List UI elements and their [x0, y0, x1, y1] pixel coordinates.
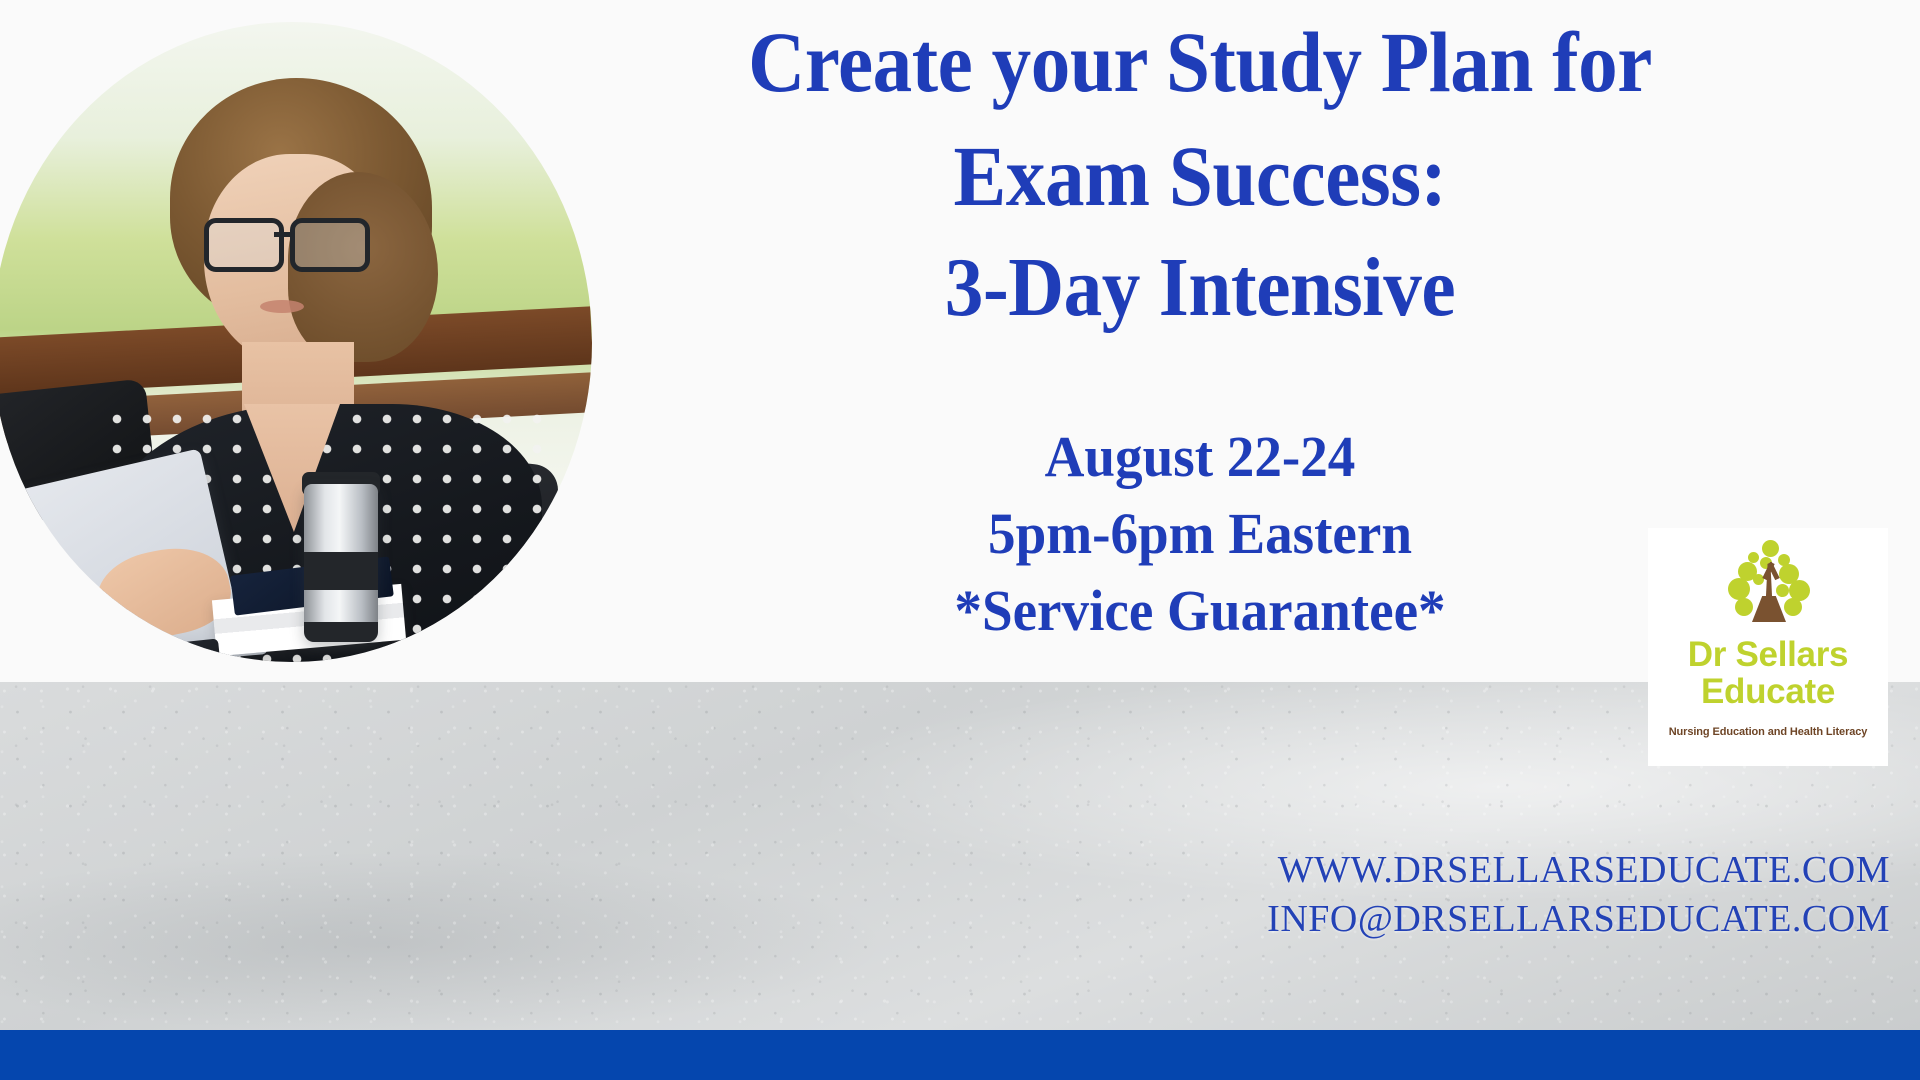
worn-lens-right — [290, 218, 370, 272]
tree-icon — [1722, 540, 1814, 624]
headline-block: Create your Study Plan for Exam Success:… — [600, 6, 1800, 344]
contact-block: WWW.DRSELLARSEDUCATE.COM INFO@DRSELLARSE… — [1080, 846, 1890, 943]
lips — [260, 300, 304, 313]
logo-tagline: Nursing Education and Health Literacy — [1669, 726, 1868, 738]
details-block: August 22-24 5pm-6pm Eastern *Service Gu… — [640, 418, 1760, 649]
logo-name-line-1: Dr Sellars — [1688, 636, 1848, 673]
logo-card: Dr Sellars Educate Nursing Education and… — [1648, 528, 1888, 766]
website-url[interactable]: WWW.DRSELLARSEDUCATE.COM — [1080, 846, 1890, 895]
headline-line-2: Exam Success: — [648, 120, 1752, 234]
headline-line-1: Create your Study Plan for — [648, 6, 1752, 120]
flyer-canvas: Create your Study Plan for Exam Success:… — [0, 0, 1920, 1080]
service-guarantee: *Service Guarantee* — [668, 572, 1732, 649]
headline-line-3: 3-Day Intensive — [648, 233, 1752, 344]
event-time: 5pm-6pm Eastern — [668, 495, 1732, 572]
worn-lens-left — [204, 218, 284, 272]
email-address[interactable]: INFO@DRSELLARSEDUCATE.COM — [1080, 895, 1890, 944]
logo-name: Dr Sellars Educate — [1688, 636, 1848, 710]
footer-blue-bar — [0, 1030, 1920, 1080]
eyeglasses-worn — [204, 218, 370, 264]
event-dates: August 22-24 — [668, 418, 1732, 495]
travel-mug-base — [304, 622, 378, 642]
travel-mug-band — [304, 552, 378, 590]
logo-name-line-2: Educate — [1688, 673, 1848, 710]
portrait-photo — [0, 22, 592, 662]
